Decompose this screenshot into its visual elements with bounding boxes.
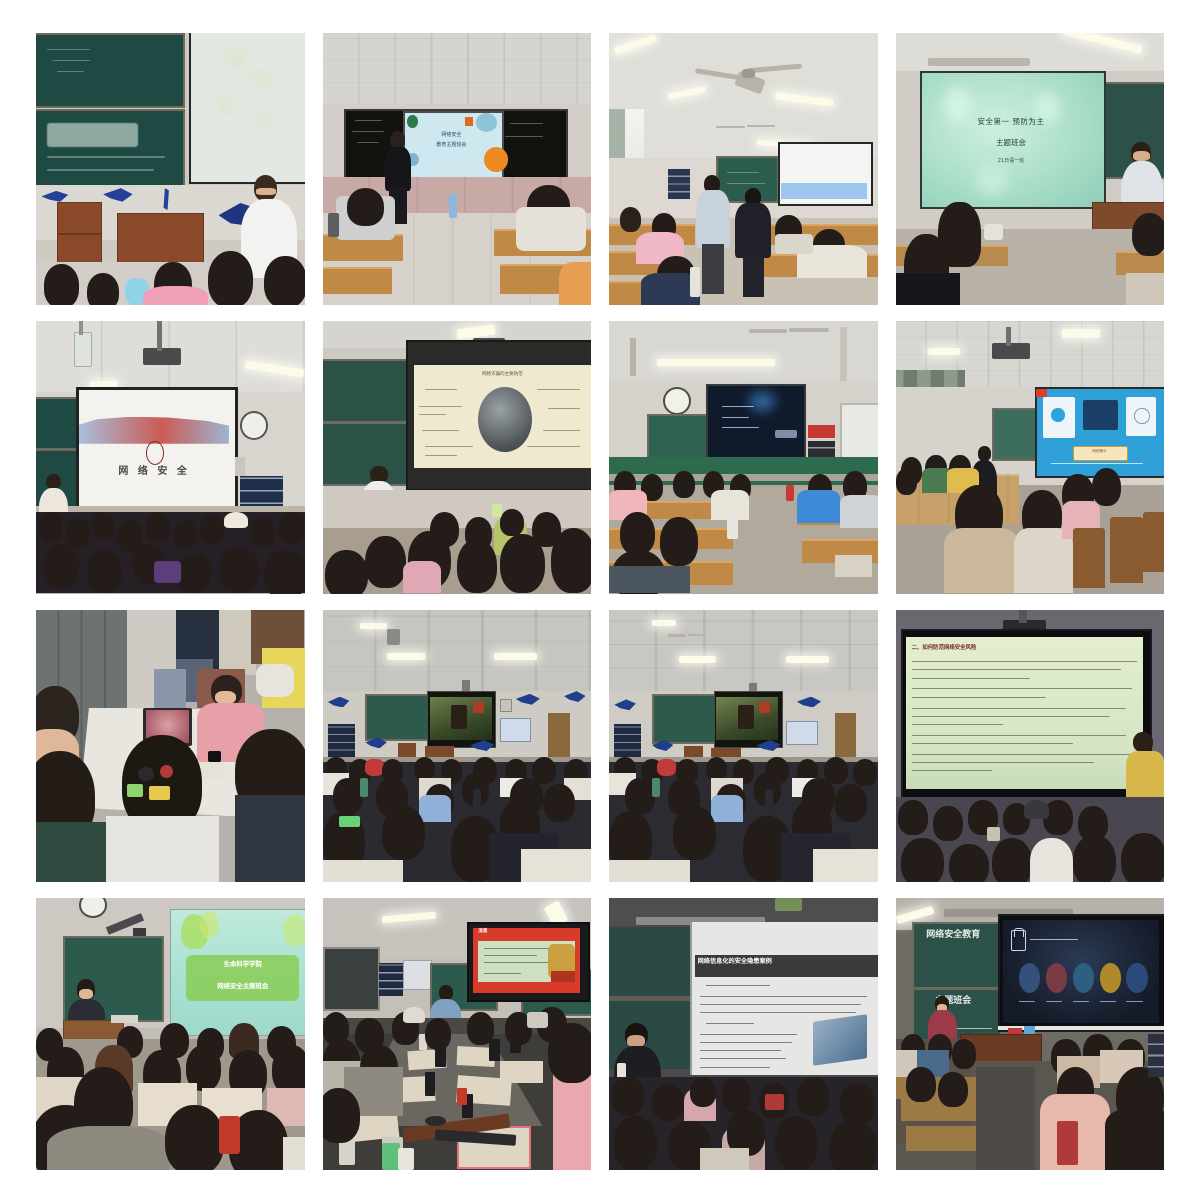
photo-cell-r2c3[interactable]	[609, 321, 878, 593]
photo-r2c1: 网 络 安 全	[36, 321, 305, 593]
photo-r4c4: 网络安全教育 主题班会	[896, 898, 1165, 1170]
photo-r4c1: 生命科学学院 网络安全主题班会	[36, 898, 305, 1170]
photo-cell-r1c2[interactable]: 网络安全 教育主题班会	[323, 33, 592, 305]
slide-subtitle-r1c4: 主题班会	[925, 138, 1097, 147]
photo-cell-r3c4[interactable]: 二、如何防范网络安全风险	[896, 610, 1165, 882]
photo-cell-r4c3[interactable]: 网络信息化的安全隐患案例	[609, 898, 878, 1170]
slide-heading-r3c4: 二、如何防范网络安全风险	[912, 645, 1057, 652]
slide-title-r4c3: 网络信息化的安全隐患案例	[698, 958, 830, 966]
slide-title-r1c4: 安全第一 预防为主	[925, 117, 1097, 126]
photo-r4c3: 网络信息化的安全隐患案例	[609, 898, 878, 1170]
photo-cell-r3c2[interactable]	[323, 610, 592, 882]
photo-cell-r2c1[interactable]: 网 络 安 全	[36, 321, 305, 593]
photo-r2c4: 网络警示	[896, 321, 1165, 593]
photo-r3c1	[36, 610, 305, 882]
slide-subtitle-r4c1: 网络安全主题班会	[186, 982, 299, 990]
photo-r2c2: 网络诈骗的主要防范	[323, 321, 592, 593]
slide-title-r2c1: 网 络 安 全	[79, 466, 229, 479]
photo-cell-r4c1[interactable]: 生命科学学院 网络安全主题班会	[36, 898, 305, 1170]
photo-cell-r4c4[interactable]: 网络安全教育 主题班会	[896, 898, 1165, 1170]
slide-banner-r4c2: 消息	[478, 929, 494, 935]
photo-cell-r1c4[interactable]: 安全第一 预防为主 主题班会 21日语一班	[896, 33, 1165, 305]
photo-cell-r1c3[interactable]	[609, 33, 878, 305]
photo-cell-r3c1[interactable]	[36, 610, 305, 882]
photo-cell-r3c3[interactable]	[609, 610, 878, 882]
photo-cell-r2c2[interactable]: 网络诈骗的主要防范	[323, 321, 592, 593]
slide-title-r4c1: 生命科学学院	[186, 960, 299, 968]
slide-note-r1c4: 21日语一班	[925, 158, 1097, 164]
photo-r1c1	[36, 33, 305, 305]
photo-r3c4: 二、如何防范网络安全风险	[896, 610, 1165, 882]
photo-r3c2	[323, 610, 592, 882]
blackboard-title-r4c4: 网络安全教育	[914, 930, 992, 941]
photo-cell-r1c1[interactable]	[36, 33, 305, 305]
photo-r4c2: 消息	[323, 898, 592, 1170]
photo-r3c3	[609, 610, 878, 882]
slide-title-r2c2: 网络诈骗的主要防范	[414, 372, 591, 378]
photo-collage-grid: 网络安全 教育主题班会	[0, 0, 1200, 1200]
photo-r1c3	[609, 33, 878, 305]
photo-cell-r4c2[interactable]: 消息	[323, 898, 592, 1170]
photo-cell-r2c4[interactable]: 网络警示	[896, 321, 1165, 593]
photo-r1c2: 网络安全 教育主题班会	[323, 33, 592, 305]
photo-r1c4: 安全第一 预防为主 主题班会 21日语一班	[896, 33, 1165, 305]
photo-r2c3	[609, 321, 878, 593]
slide-warning-r2c4: 网络警示	[1073, 449, 1127, 453]
